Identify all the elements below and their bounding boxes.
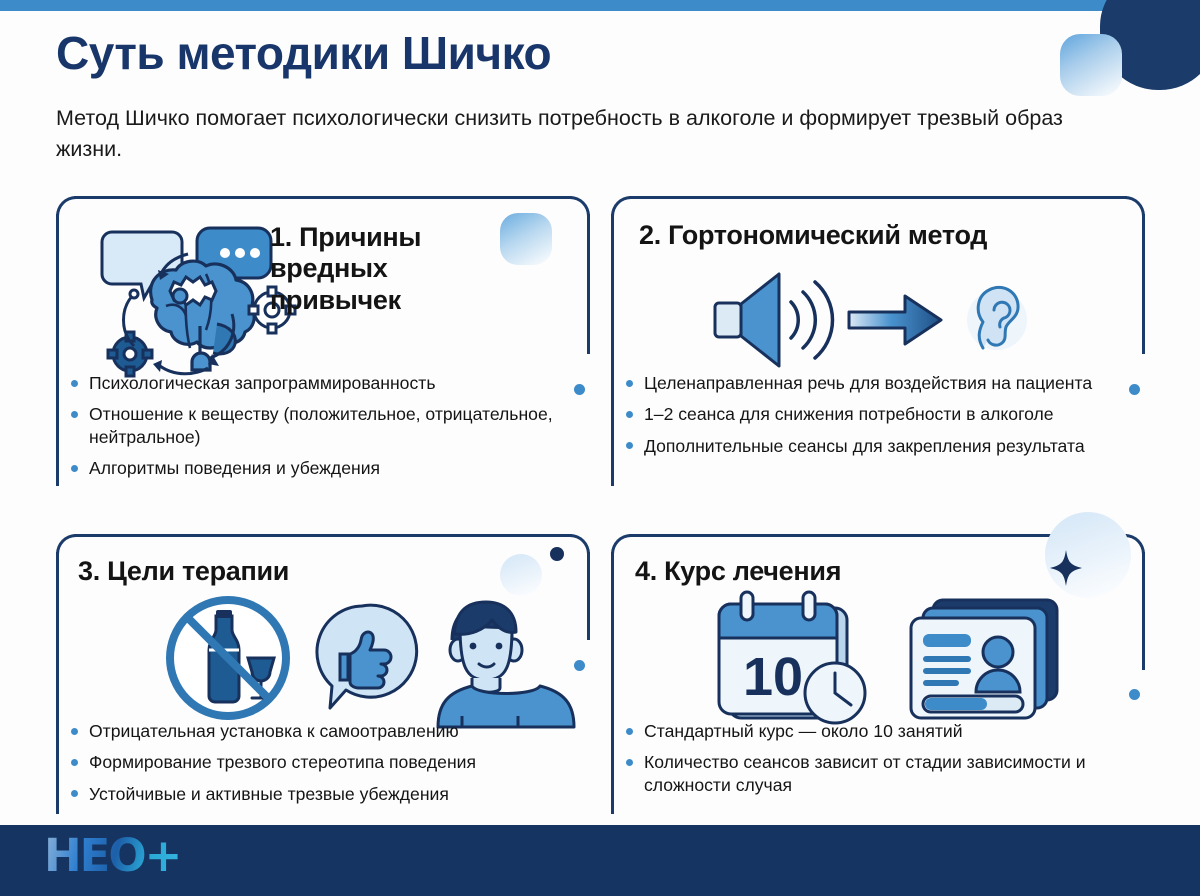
frame-corner-top-right [1124,196,1145,217]
calendar-day-number: 10 [743,647,803,707]
card-bullet-list: Целенаправленная речь для воздействия на… [623,372,1138,466]
list-item: Устойчивые и активные трезвые убеждения [68,783,588,805]
frame-corner-top-left [56,196,77,217]
list-item: Алгоритмы поведения и убеждения [68,457,578,479]
footer-bar: HEO+ [0,825,1200,896]
card-heading: 2. Гортономический метод [639,220,987,251]
frame-left-line [611,214,614,486]
card-causes: 1. Причинывредныхпривычек Психологическа… [56,196,590,506]
brand-logo: HEO+ [44,829,180,882]
list-item: 1–2 сеанса для снижения потребности в ал… [623,403,1138,425]
decor-dot-blue [1129,689,1140,700]
page-title: Суть методики Шичко [56,26,551,80]
list-item: Количество сеансов зависит от стадии зав… [623,751,1133,796]
frame-right-line [587,552,590,640]
frame-left-line [56,552,59,814]
list-item: Дополнительные сеансы для закрепления ре… [623,435,1138,457]
card-bullet-list: Психологическая запрограммированность От… [68,372,578,488]
frame-left-line [56,214,59,486]
frame-right-line [1142,214,1145,354]
card-hortonomic-method: 2. Гортономический метод [611,196,1145,506]
list-item: Психологическая запрограммированность [68,372,578,394]
list-item: Формирование трезвого стереотипа поведен… [68,751,588,773]
list-item: Отрицательная установка к самоотравлению [68,720,588,742]
frame-right-line [587,214,590,354]
frame-top-line [629,196,1127,199]
frame-corner-top-right [569,196,590,217]
calendar-clock-cards-icon: 10 [711,592,1071,727]
card-bullet-list: Отрицательная установка к самоотравлению… [68,720,588,814]
frame-corner-top-left [56,534,77,555]
list-item: Стандартный курс — около 10 занятий [623,720,1133,742]
no-alcohol-thumbsup-person-icon [166,592,576,727]
frame-right-line [1142,552,1145,670]
frame-left-line [611,552,614,814]
decor-soft-circle [500,554,542,596]
list-item: Отношение к веществу (положительное, отр… [68,403,578,448]
frame-top-line [74,196,572,199]
card-therapy-goals: 3. Цели терапии [56,534,590,824]
card-bullet-list: Стандартный курс — около 10 занятий Коли… [623,720,1133,805]
card-heading: 4. Курс лечения [635,556,841,587]
frame-corner-top-left [611,534,632,555]
sparkle-icon [1050,550,1082,586]
page-subtitle: Метод Шичко помогает психологически сниз… [56,103,1116,164]
top-right-gradient-square [1060,34,1122,96]
frame-corner-top-right [569,534,590,555]
card-treatment-course: 4. Курс лечения 10 [611,534,1145,824]
infographic-page: Суть методики Шичко Метод Шичко помогает… [0,0,1200,896]
frame-top-line [74,534,572,537]
speaker-arrow-ear-icon [711,268,1051,373]
top-accent-bar [0,0,1200,11]
card-heading: 1. Причинывредныхпривычек [270,222,520,316]
decor-dot-navy [550,547,564,561]
brain-gears-icon [82,214,302,384]
frame-corner-top-left [611,196,632,217]
card-heading: 3. Цели терапии [78,556,289,587]
list-item: Целенаправленная речь для воздействия на… [623,372,1138,394]
